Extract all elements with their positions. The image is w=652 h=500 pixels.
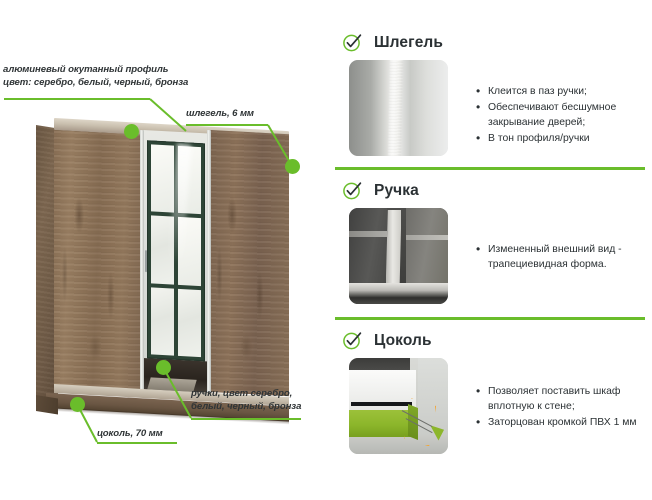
features-column: Шлегель Клеится в паз ручки; Обеспечиваю… [330, 0, 652, 500]
section-header: Ручка [342, 180, 419, 201]
floor-surface [349, 435, 448, 454]
list-item: Измененный внешний вид - трапециевидная … [476, 242, 644, 272]
callout-rule-plinth [97, 442, 177, 444]
section-title: Шлегель [374, 34, 443, 52]
door-panel-right [406, 208, 448, 283]
green-plinth-photo [349, 358, 448, 454]
callout-dot-shlegel [285, 159, 300, 174]
feature-bullet-list: Измененный внешний вид - трапециевидная … [476, 242, 644, 273]
section-title: Ручка [374, 182, 419, 200]
cabinet-slot [351, 402, 412, 405]
feature-section-ruchka: Ручка Измененный внешний вид - трапециев… [330, 170, 652, 320]
panel-strip-right [406, 235, 448, 240]
list-item: В тон профиля/ручки [476, 131, 642, 146]
product-illustration-column: алюминевый окутанный профиль цвет: сереб… [0, 0, 330, 500]
callout-label-shlegel: шлегель, 6 мм [186, 108, 326, 121]
callout-rule-shlegel [186, 124, 268, 126]
callout-label-profile: алюминевый окутанный профиль цвет: сереб… [3, 64, 203, 89]
shlegel-brush-seal-photo [349, 60, 448, 156]
callout-rule-handles [191, 418, 301, 420]
list-item: Позволяет поставить шкаф вплотную к стен… [476, 384, 648, 414]
trapezoid-handle-photo [349, 208, 448, 304]
section-header: Цоколь [342, 330, 432, 351]
check-circle-icon [342, 330, 363, 351]
door-panel-left [349, 208, 387, 283]
thumbnail-tsokol [349, 358, 448, 454]
callout-dot-handles [156, 360, 171, 375]
callout-label-plinth: цоколь, 70 мм [97, 428, 227, 441]
brush-seal-strip [388, 60, 403, 156]
check-circle-icon [342, 180, 363, 201]
trapezoid-handle [386, 210, 402, 289]
callout-label-handles: ручки, цвет серебро, белый, черный, брон… [191, 388, 341, 413]
floor-rail [349, 283, 448, 304]
callout-dot-plinth [70, 397, 85, 412]
panel-strip-left [349, 231, 387, 237]
list-item: Заторцован кромкой ПВХ 1 мм [476, 415, 648, 430]
thumbnail-ruchka [349, 208, 448, 304]
feature-section-tsokol: Цоколь Позволяет поставит [330, 320, 652, 480]
section-title: Цоколь [374, 332, 432, 350]
feature-section-shlegel: Шлегель Клеится в паз ручки; Обеспечиваю… [330, 22, 652, 170]
thumbnail-shlegel [349, 60, 448, 156]
list-item: Клеится в паз ручки; [476, 84, 642, 99]
callout-rule-profile [4, 98, 150, 100]
infographic-page: алюминевый окутанный профиль цвет: сереб… [0, 0, 652, 500]
callout-dot-profile [124, 124, 139, 139]
feature-bullet-list: Клеится в паз ручки; Обеспечивают бесшум… [476, 84, 642, 147]
feature-bullet-list: Позволяет поставить шкаф вплотную к стен… [476, 384, 648, 431]
section-header: Шлегель [342, 32, 443, 53]
green-plinth [349, 410, 412, 437]
list-item: Обеспечивают бесшумное закрывание дверей… [476, 100, 642, 130]
check-circle-icon [342, 32, 363, 53]
